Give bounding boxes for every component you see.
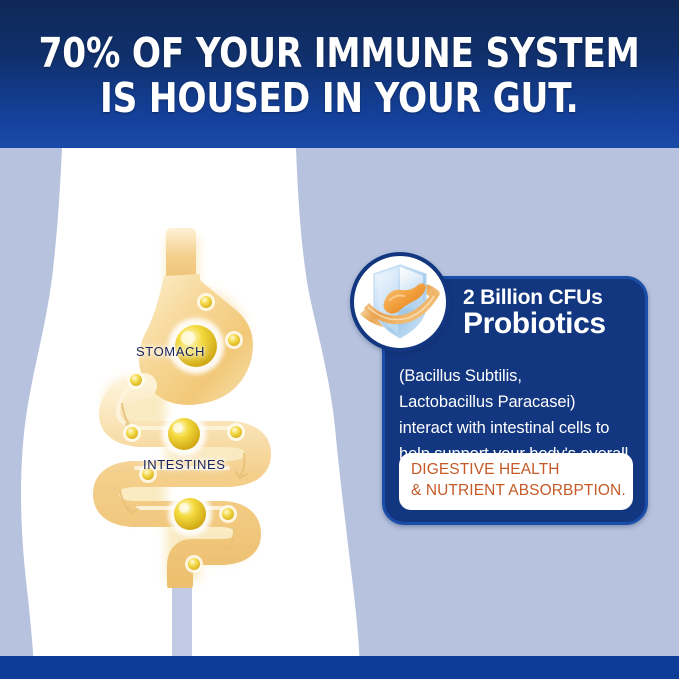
infographic-canvas: 70% OF YOUR IMMUNE SYSTEM IS HOUSED IN Y… [0,0,679,679]
header-banner: 70% OF YOUR IMMUNE SYSTEM IS HOUSED IN Y… [0,0,679,148]
headline-line-2: IS HOUSED IN YOUR GUT. [100,78,578,120]
digestive-system-illustration [88,228,338,588]
benefit-line: & NUTRIENT ABSORBPTION. [411,481,621,502]
description-line: interact with intestinal cells to [399,415,633,441]
intestines-label: INTESTINES [143,457,226,472]
cfu-count-label: 2 Billion CFUs [463,287,633,309]
stomach-label: STOMACH [136,344,205,359]
card-title: Probiotics [463,308,633,340]
benefits-callout-box: DIGESTIVE HEALTH & NUTRIENT ABSORBPTION. [399,453,633,510]
description-line: (Bacillus Subtilis, [399,363,633,389]
card-description: (Bacillus Subtilis, Lactobacillus Paraca… [399,363,633,467]
headline-line-1: 70% OF YOUR IMMUNE SYSTEM [39,33,640,75]
bottom-bar [0,656,679,679]
shield-badge [350,252,450,352]
shield-with-ribbon-icon [354,256,446,348]
benefit-line: DIGESTIVE HEALTH [411,460,621,481]
description-line: Lactobacillus Paracasei) [399,389,633,415]
card-heading-group: 2 Billion CFUs Probiotics [463,287,633,340]
